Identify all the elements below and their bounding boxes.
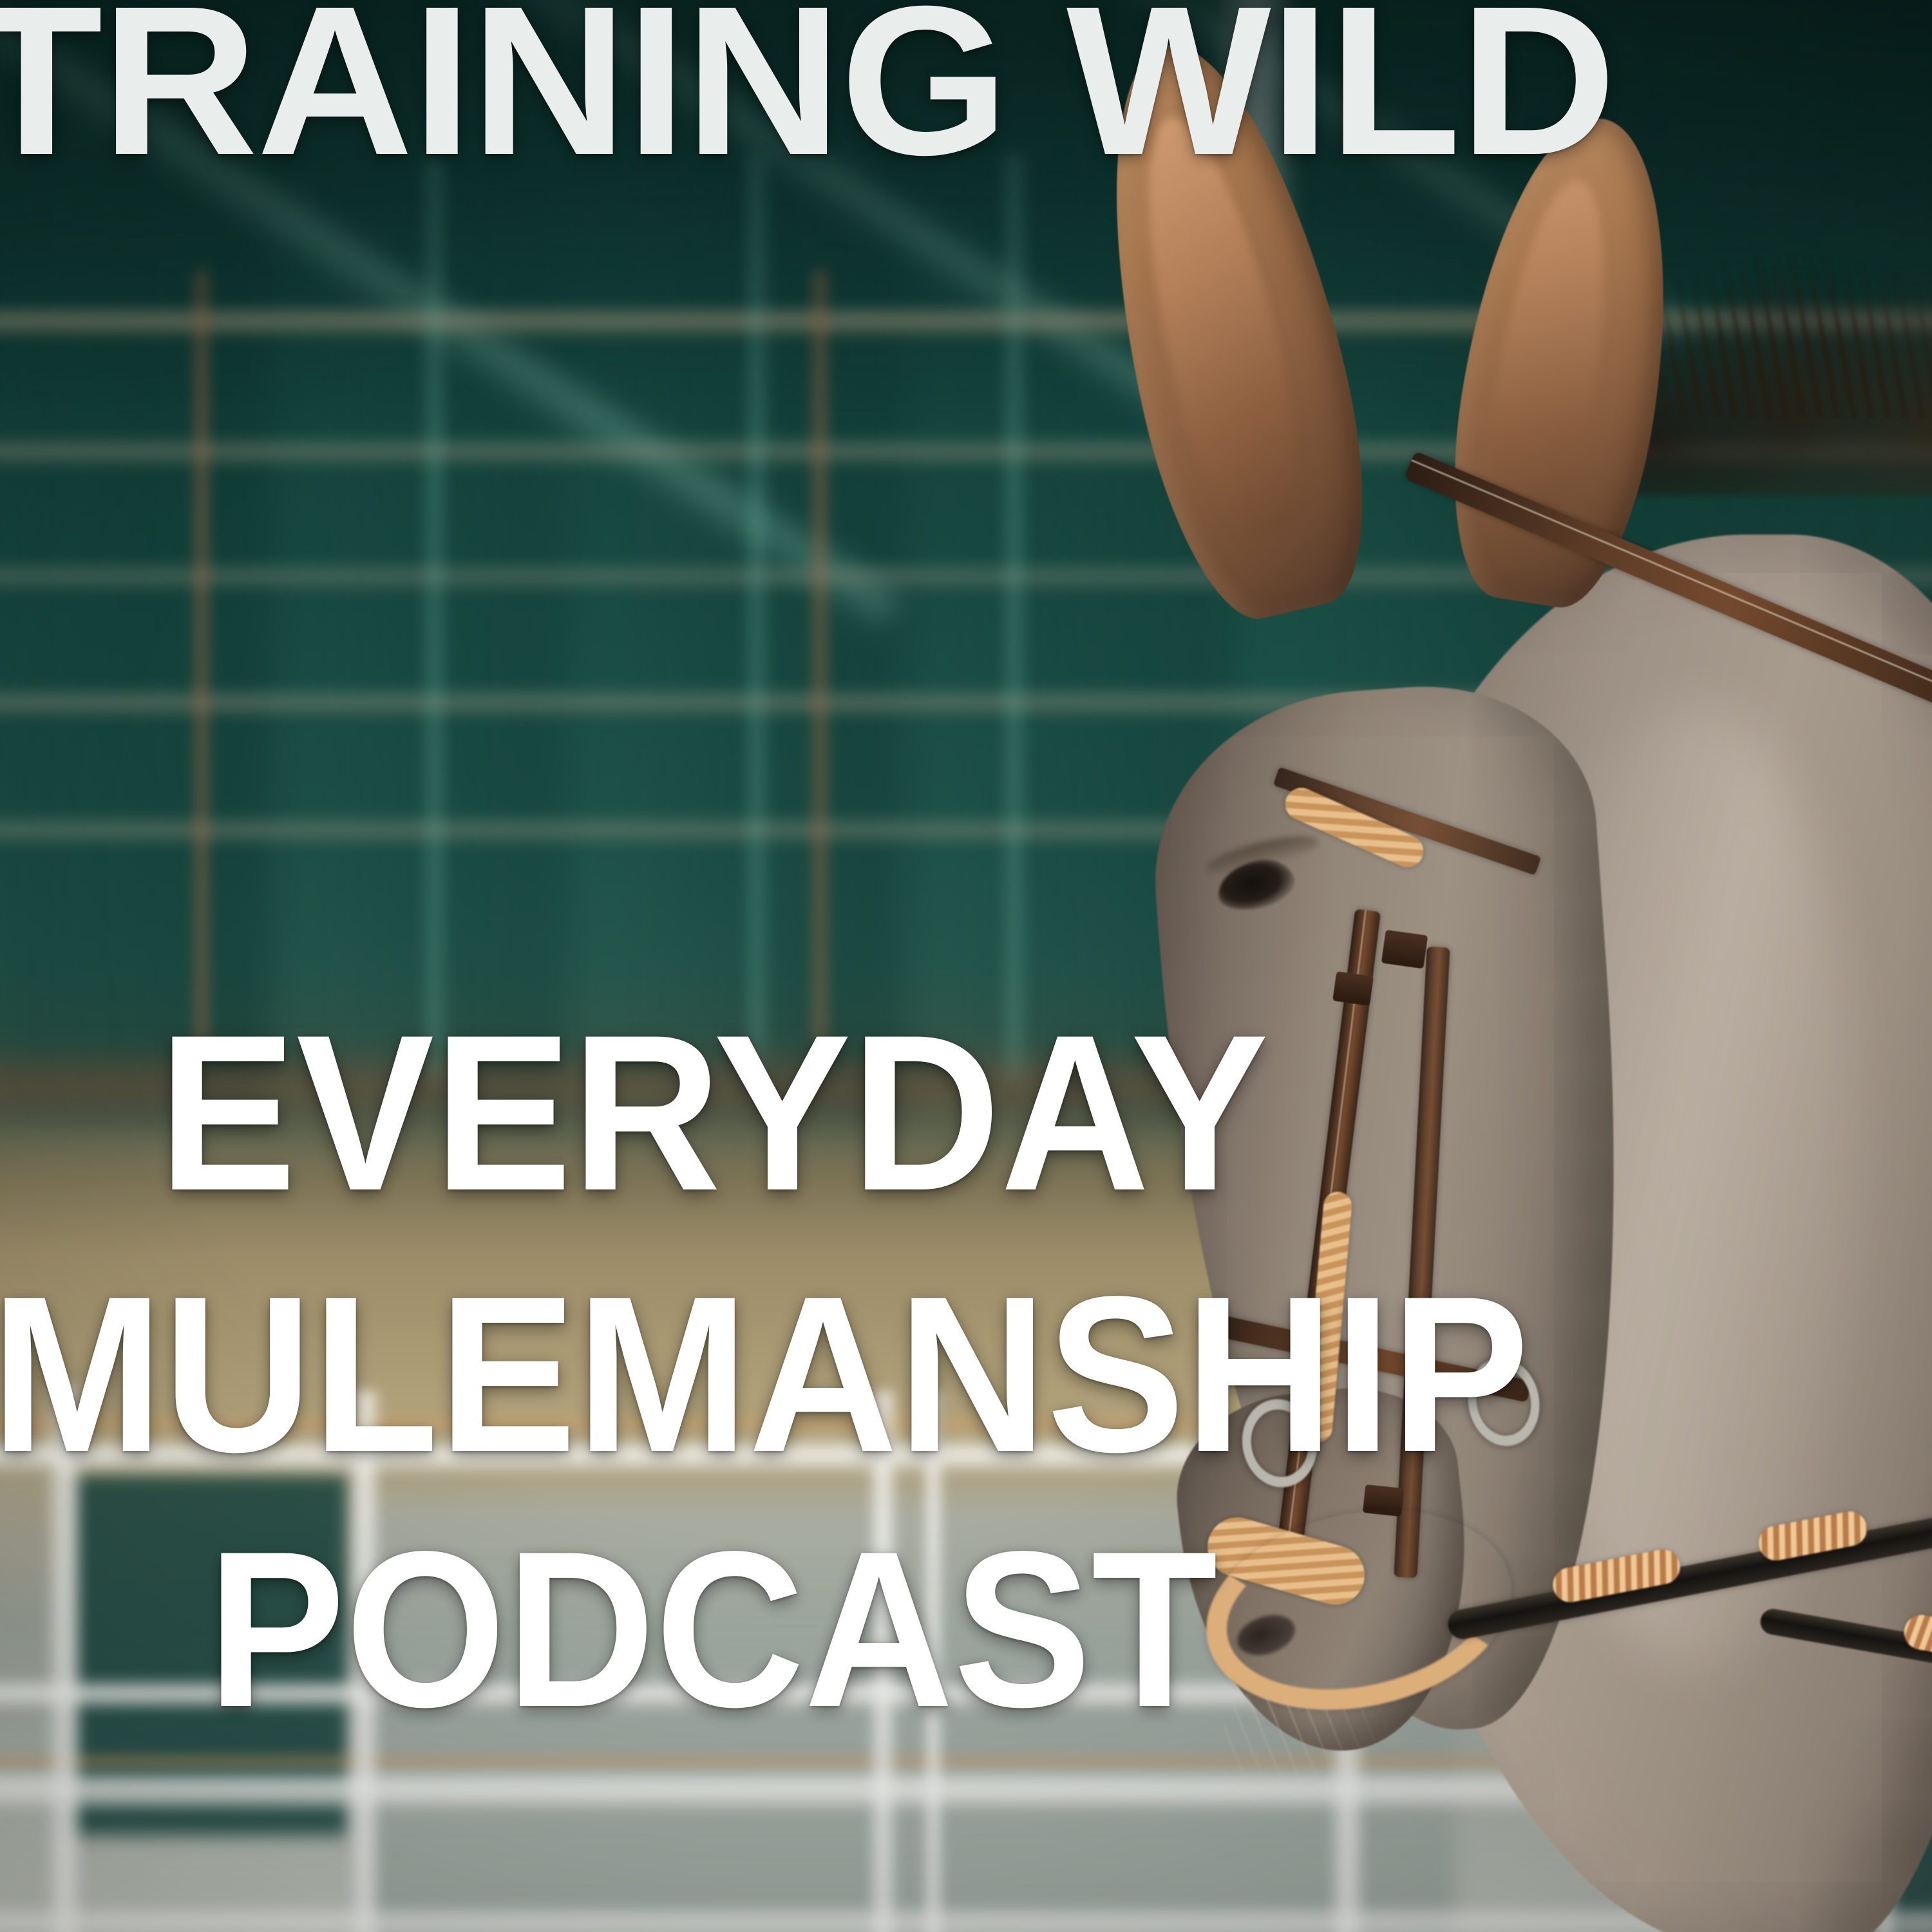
typography-layer: TRAINING WILD EVERYDAY MULEMANSHIP PODCA… — [0, 0, 1932, 1932]
subtitle-line-one: EVERYDAY — [158, 1002, 1269, 1224]
podcast-cover-art: TRAINING WILD EVERYDAY MULEMANSHIP PODCA… — [0, 0, 1932, 1932]
subtitle-line-two: MULEMANSHIP — [0, 1264, 1529, 1486]
subtitle-line-three: PODCAST — [207, 1519, 1218, 1741]
page-title: TRAINING WILD — [0, 0, 1932, 180]
